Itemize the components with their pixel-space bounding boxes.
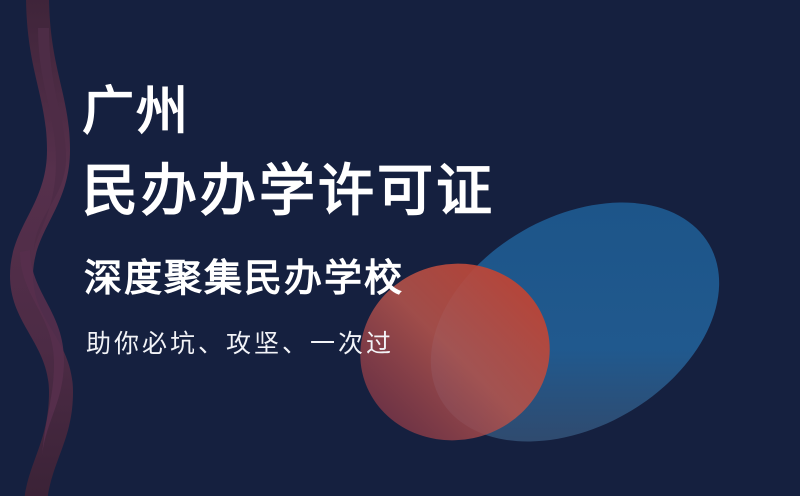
city-name: 广州 bbox=[82, 86, 190, 138]
tagline: 助你必坑、攻坚、一次过 bbox=[86, 330, 394, 358]
subtitle: 深度聚集民办学校 bbox=[84, 258, 404, 300]
page-title: 民办办学许可证 bbox=[82, 162, 495, 221]
promo-banner: 广州 民办办学许可证 深度聚集民办学校 助你必坑、攻坚、一次过 bbox=[0, 0, 800, 496]
headline-block: 广州 民办办学许可证 深度聚集民办学校 助你必坑、攻坚、一次过 bbox=[0, 0, 800, 496]
